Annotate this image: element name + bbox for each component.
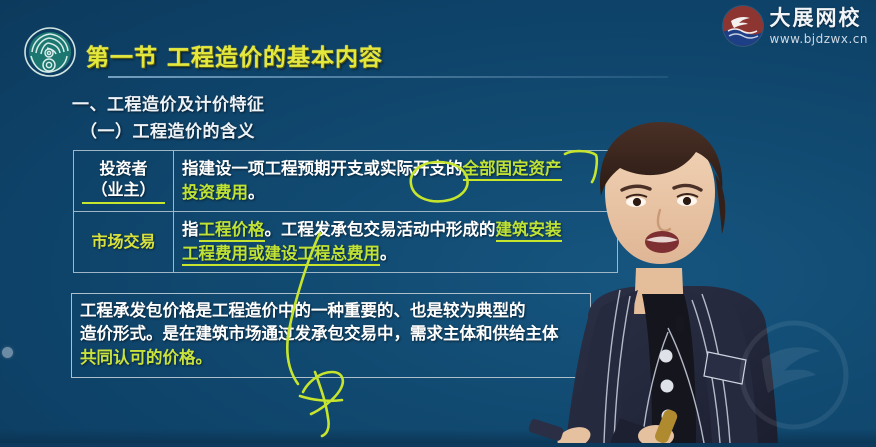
key-line-1: 市场交易 <box>82 231 165 253</box>
brand-name: 大展网校 <box>770 8 868 29</box>
table-cell-key: 投资者 （业主） <box>74 151 174 212</box>
key-line-2: （业主） <box>82 179 165 204</box>
value-text-highlight: 工程价格 <box>199 220 265 242</box>
nautilus-spiral-icon <box>22 26 78 78</box>
value-text-plain: 指建设一项工程预期开支或实际开支的 <box>182 159 463 178</box>
value-text-plain-2: 。 <box>248 183 265 202</box>
wave-circle-logo-icon <box>723 6 763 46</box>
value-text-highlight-2: 投资费用 <box>182 183 248 202</box>
slide-header: 第一节 工程造价的基本内容 大展网校 www.bjdzwx.cn <box>0 0 876 84</box>
heading-level-2: （一）工程造价的含义 <box>80 117 255 142</box>
instructor-video-overlay <box>470 118 876 443</box>
value-text-plain-2: 。 <box>380 244 397 263</box>
key-line-1: 投资者 <box>82 158 165 180</box>
heading-level-1: 一、工程造价及计价特征 <box>72 90 265 115</box>
page-title: 第一节 工程造价的基本内容 <box>86 38 383 72</box>
value-text-plain: 指 <box>182 220 199 239</box>
brand-url: www.bjdzwx.cn <box>770 33 868 45</box>
value-text-mid: 。工程发承包交易活动中形成的 <box>265 220 496 239</box>
left-edge-cursor-dot <box>2 347 13 358</box>
title-divider <box>108 76 668 78</box>
table-cell-key: 市场交易 <box>74 211 174 272</box>
brand-block: 大展网校 www.bjdzwx.cn <box>723 6 868 46</box>
value-text-highlight-3: 工程费用或建设工程总费用 <box>182 244 380 266</box>
